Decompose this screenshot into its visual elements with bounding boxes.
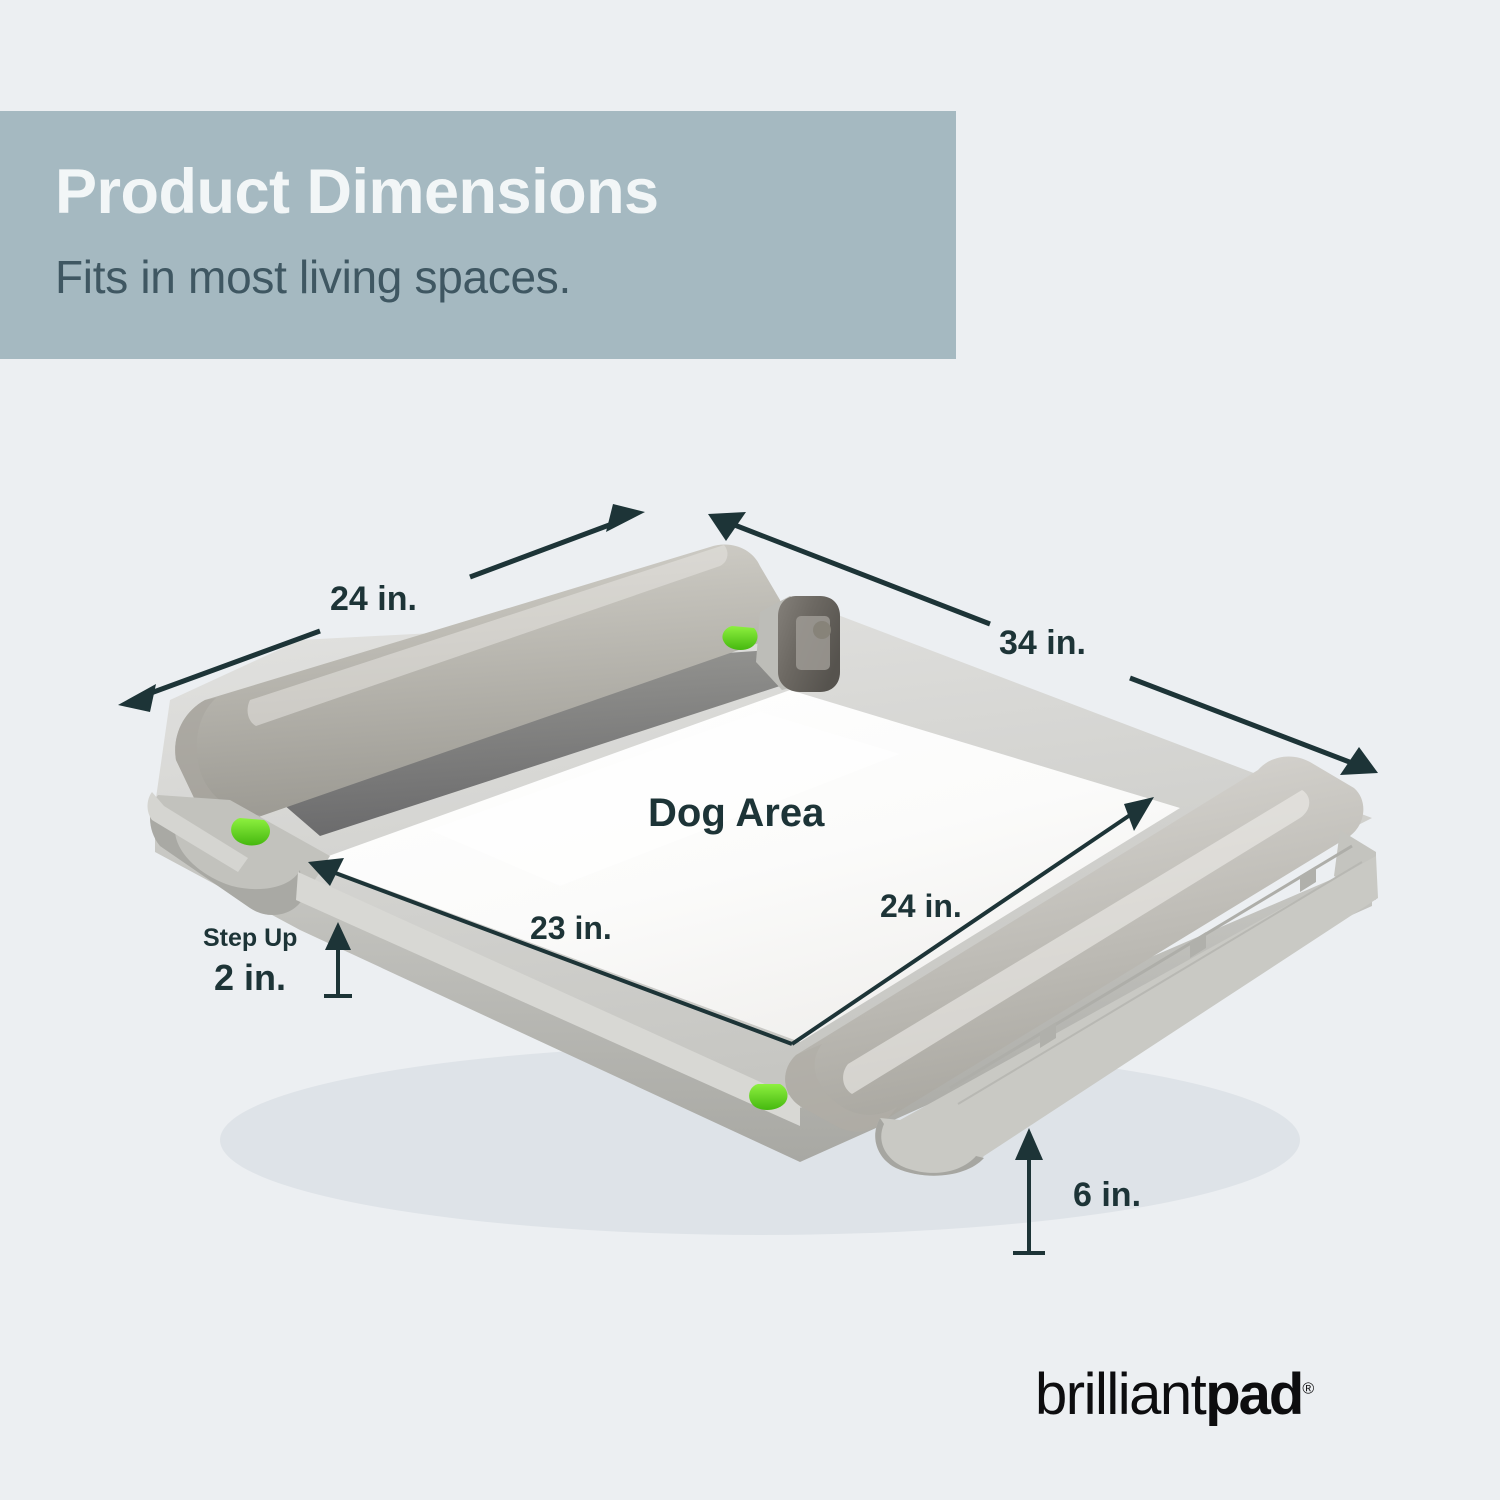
arrowhead-23 — [308, 858, 344, 886]
header-banner: Product Dimensions Fits in most living s… — [0, 111, 956, 359]
dog-area-pad — [312, 690, 1180, 1042]
control-module-window — [796, 616, 830, 670]
tray-top-surface — [155, 612, 1372, 1108]
front-roller-bar — [785, 756, 1363, 1131]
registered-trademark-icon: ® — [1302, 1381, 1314, 1398]
left-end-housing — [150, 795, 330, 915]
dimension-label-exterior-depth: 24 in. — [330, 582, 417, 616]
frame-latch-notch-1 — [1190, 932, 1206, 958]
arrowhead-6 — [1015, 1128, 1043, 1160]
clip-green-back-right-icon — [722, 626, 757, 650]
back-roller-highlight — [248, 545, 728, 726]
step-up-caption: Step Up — [203, 926, 297, 951]
brand-logo: brilliantpad® — [1035, 1366, 1314, 1424]
arrow-24-inner-line — [792, 811, 1136, 1044]
arrowhead-step-up — [325, 922, 351, 950]
dimension-label-interior-width: 24 in. — [880, 890, 962, 922]
arrow-24-back-line-upper — [470, 521, 620, 577]
dog-area-label: Dog Area — [648, 793, 824, 833]
frame-seam-2 — [958, 862, 1362, 1104]
arrowhead-24-back-start — [118, 684, 156, 712]
page-title: Product Dimensions — [55, 161, 659, 224]
frame-latch-notch-3 — [1300, 866, 1316, 892]
right-end-housing-shade — [875, 1118, 984, 1176]
dimension-label-interior-depth: 23 in. — [530, 912, 612, 944]
left-end-rim — [148, 792, 249, 872]
arrowhead-34-start — [708, 512, 746, 541]
frame-latch-notch-2 — [1040, 1022, 1056, 1048]
dimension-label-total-height: 6 in. — [1073, 1178, 1141, 1212]
arrow-34-line-lower — [1130, 678, 1352, 763]
arrow-34-line-upper — [732, 524, 990, 624]
arrow-24-back-line-lower — [140, 631, 320, 697]
dimension-label-step-up: 2 in. — [214, 960, 286, 996]
tray-side-wall — [155, 805, 1372, 1162]
arrowhead-24-back-end — [606, 504, 645, 532]
product-dimensions-infographic: Product Dimensions Fits in most living s… — [0, 0, 1500, 1500]
arrowhead-24-inner — [1124, 797, 1154, 831]
brand-logo-bold-text: pad — [1205, 1362, 1302, 1427]
back-roller-end-cap — [175, 698, 262, 824]
back-roller-bar — [175, 544, 782, 823]
dimension-label-exterior-width: 34 in. — [999, 626, 1086, 660]
brand-logo-light-text: brilliant — [1035, 1362, 1205, 1427]
clip-green-front-icon — [749, 1084, 787, 1110]
control-module-dial-icon — [813, 621, 831, 639]
front-roller-end-cap — [785, 1044, 898, 1132]
left-end-housing-shade — [150, 806, 302, 915]
page-subtitle: Fits in most living spaces. — [55, 254, 571, 300]
arrow-23-line — [330, 871, 792, 1044]
arrowhead-34-end — [1340, 747, 1378, 775]
control-module-base — [756, 596, 840, 690]
control-module — [778, 596, 840, 692]
frame-seam-1 — [950, 846, 1352, 1088]
right-frame-rail — [1334, 830, 1376, 900]
clip-green-back-left-icon — [231, 818, 270, 845]
dimension-arrows — [118, 504, 1378, 1253]
front-roller-highlight — [843, 790, 1309, 1094]
